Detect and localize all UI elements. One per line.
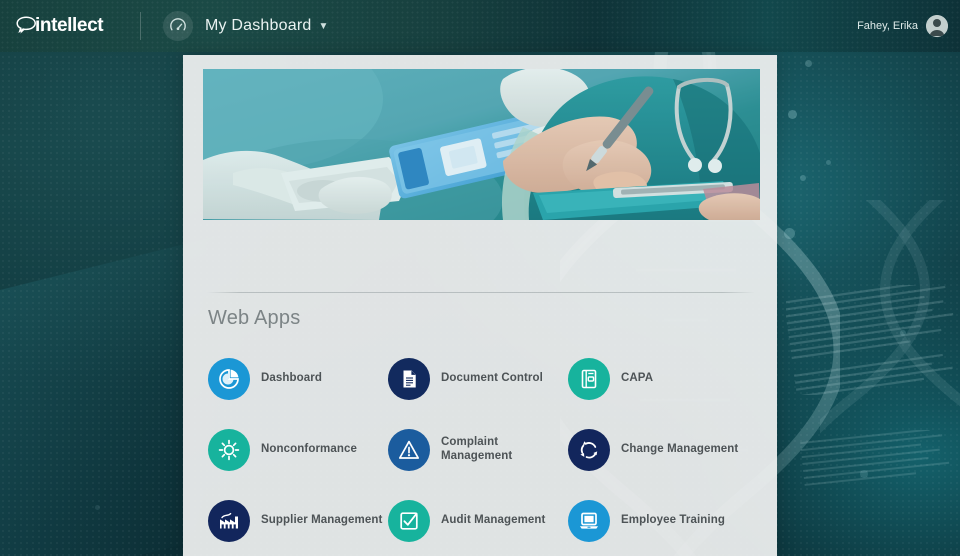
- binder-book-icon: [568, 358, 610, 400]
- pie-chart-icon: [208, 358, 250, 400]
- app-tile-document-control[interactable]: Document Control: [388, 343, 568, 414]
- dashboard-panel: Web Apps Dashboard: [183, 55, 777, 556]
- app-tile-supplier-management[interactable]: Supplier Management: [208, 485, 388, 556]
- hero-image: [203, 69, 760, 220]
- app-tile-nonconformance[interactable]: Nonconformance: [208, 414, 388, 485]
- logo-text: intellect: [35, 15, 103, 37]
- app-label: Dashboard: [261, 372, 322, 386]
- app-tile-audit-management[interactable]: Audit Management: [388, 485, 568, 556]
- page-title: Web Apps: [208, 307, 300, 330]
- app-tile-dashboard[interactable]: Dashboard: [208, 343, 388, 414]
- user-menu[interactable]: Fahey, Erika: [857, 15, 960, 37]
- app-label: Supplier Management: [261, 514, 382, 528]
- warning-triangle-icon: [388, 429, 430, 471]
- factory-icon: [208, 500, 250, 542]
- section-divider: [207, 292, 755, 293]
- app-label: Audit Management: [441, 514, 545, 528]
- refresh-arrows-icon: [568, 429, 610, 471]
- app-tile-change-management[interactable]: Change Management: [568, 414, 758, 485]
- chevron-down-icon: ▼: [318, 21, 328, 32]
- app-row: Nonconformance Complaint Management: [208, 414, 768, 485]
- app-label: Change Management: [621, 443, 738, 457]
- app-tile-employee-training[interactable]: Employee Training: [568, 485, 758, 556]
- app-label: Document Control: [441, 372, 543, 386]
- user-name-label: Fahey, Erika: [857, 20, 918, 32]
- app-row: Dashboard Document Contro: [208, 343, 768, 414]
- dashboard-selector[interactable]: My Dashboard ▼: [205, 17, 328, 35]
- top-header-bar: intellect My Dashboard ▼ Fahey, Erika: [0, 0, 960, 52]
- app-label: Employee Training: [621, 514, 725, 528]
- dashboard-title: My Dashboard: [205, 17, 311, 35]
- app-tile-complaint-management[interactable]: Complaint Management: [388, 414, 568, 485]
- header-divider: [140, 12, 141, 40]
- sun-burst-icon: [208, 429, 250, 471]
- app-row: Supplier Management Audit Management: [208, 485, 768, 556]
- app-label: Complaint Management: [441, 436, 568, 463]
- checkbox-check-icon: [388, 500, 430, 542]
- laptop-icon: [568, 500, 610, 542]
- app-label: Nonconformance: [261, 443, 357, 457]
- gauge-icon[interactable]: [163, 11, 193, 41]
- document-icon: [388, 358, 430, 400]
- app-logo[interactable]: intellect: [0, 15, 132, 37]
- user-avatar-icon[interactable]: [926, 15, 948, 37]
- web-apps-grid: Dashboard Document Contro: [208, 343, 768, 556]
- app-tile-capa[interactable]: CAPA: [568, 343, 758, 414]
- app-label: CAPA: [621, 372, 653, 386]
